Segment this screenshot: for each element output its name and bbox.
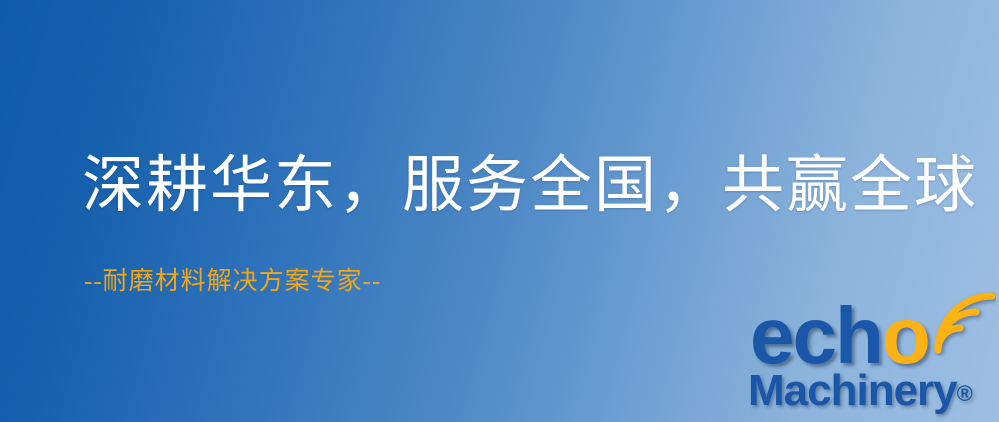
promo-banner: 深耕华东，服务全国，共赢全球 --耐磨材料解决方案专家-- echo Machi…	[0, 0, 999, 422]
banner-subtitle: --耐磨材料解决方案专家--	[84, 266, 381, 298]
logo-tagline: Machinery®	[748, 366, 973, 416]
logo-tagline-text: Machinery	[748, 366, 957, 415]
banner-headline: 深耕华东，服务全国，共赢全球	[82, 150, 978, 222]
logo-wordmark: echo	[750, 298, 929, 374]
registered-trademark-icon: ®	[957, 381, 973, 406]
wifi-arcs-icon	[932, 292, 996, 356]
company-logo[interactable]: echo Machinery®	[742, 296, 994, 416]
